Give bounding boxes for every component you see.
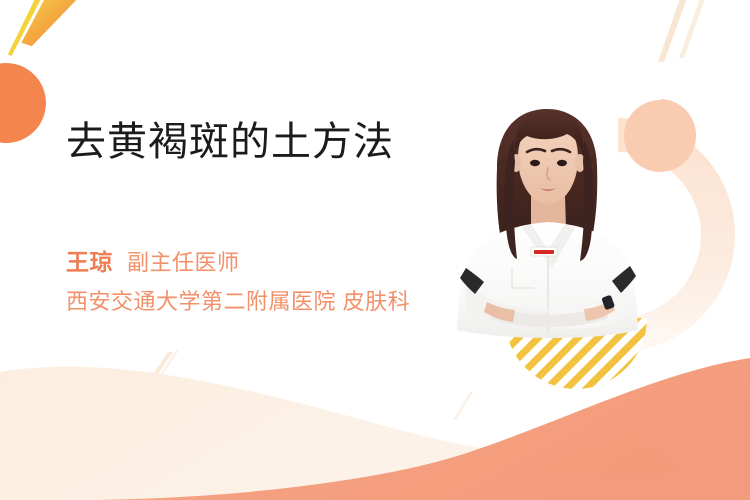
- portrait-body: [457, 109, 638, 338]
- video-cover-card: 去黄褐斑的土方法 王琼副主任医师 西安交通大学第二附属医院 皮肤科: [0, 0, 750, 500]
- eye-right: [557, 160, 567, 166]
- name-badge: [531, 247, 557, 256]
- eye-left: [530, 160, 540, 166]
- presenter-portrait: [0, 0, 750, 500]
